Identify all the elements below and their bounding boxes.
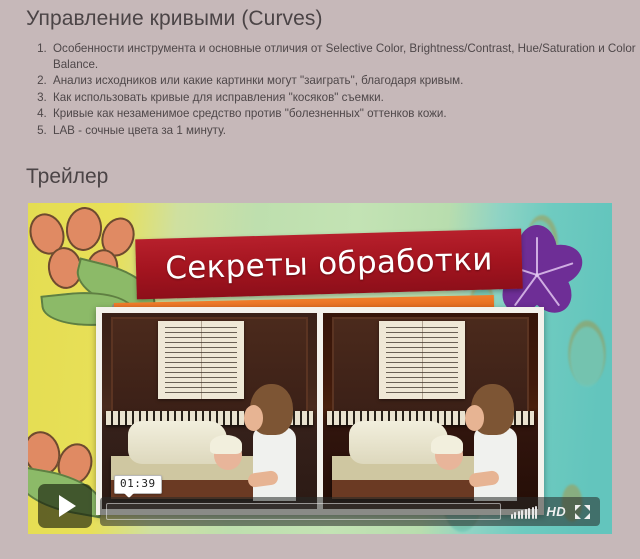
player-right-controls: HD <box>511 504 594 519</box>
video-player[interactable]: Секреты обработки <box>28 203 612 534</box>
list-item: Анализ исходников или какие картинки мог… <box>50 73 640 89</box>
list-item: Особенности инструмента и основные отлич… <box>50 41 640 72</box>
list-item: Кривые как незаменимое средство против "… <box>50 106 640 122</box>
list-item: Как использовать кривые для исправления … <box>50 90 640 106</box>
trailer-section-title: Трейлер <box>26 165 108 189</box>
list-item: LAB - сочные цвета за 1 минуту. <box>50 123 640 139</box>
play-icon <box>59 495 76 517</box>
player-control-bar: HD <box>100 497 600 526</box>
topic-list: Особенности инструмента и основные отлич… <box>26 41 640 140</box>
play-button[interactable] <box>38 484 92 528</box>
fullscreen-icon[interactable] <box>575 505 590 519</box>
progress-bar[interactable] <box>106 503 501 520</box>
photo-comparison-mat <box>96 307 544 515</box>
time-tooltip: 01:39 <box>114 475 162 494</box>
page-title: Управление кривыми (Curves) <box>26 7 323 31</box>
sheet-music <box>379 321 465 399</box>
sheet-music <box>158 321 244 399</box>
photo-after <box>323 313 538 509</box>
poster-title-text: Секреты обработки <box>135 229 523 300</box>
hd-badge[interactable]: HD <box>546 504 566 519</box>
poster-title-banner: Секреты обработки <box>135 229 523 300</box>
volume-icon[interactable] <box>511 504 538 519</box>
